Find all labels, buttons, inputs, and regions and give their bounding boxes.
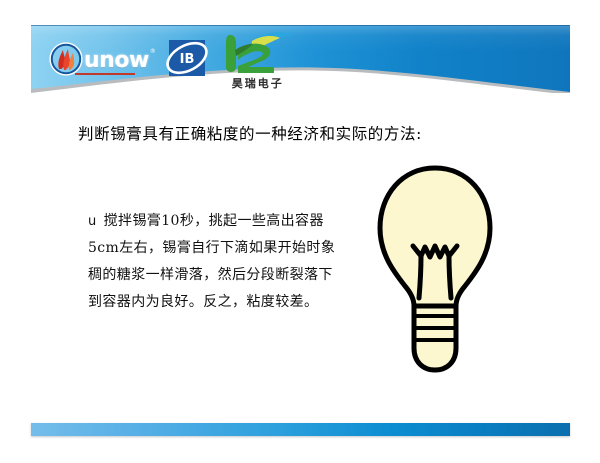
page-title: 判断锡膏具有正确粘度的一种经济和实际的方法: xyxy=(78,122,548,144)
header-banner xyxy=(31,25,570,93)
footer-bar xyxy=(31,423,570,436)
banner-sheen xyxy=(31,25,570,51)
bulb-glass xyxy=(380,168,490,306)
bulb-filament-leg-right xyxy=(449,256,451,298)
body-block: u搅拌锡膏10秒，挑起一些高出容器5cm左右，锡膏自行下滴如果开始时象稠的糖浆一… xyxy=(88,208,338,316)
bullet-marker: u xyxy=(88,214,104,229)
body-paragraph-text: 搅拌锡膏10秒，挑起一些高出容器5cm左右，锡膏自行下滴如果开始时象稠的糖浆一样… xyxy=(88,213,335,310)
lightbulb-illustration xyxy=(373,162,497,392)
lightbulb-icon xyxy=(373,162,497,392)
body-paragraph: u搅拌锡膏10秒，挑起一些高出容器5cm左右，锡膏自行下滴如果开始时象稠的糖浆一… xyxy=(88,208,338,316)
banner-top-hairline xyxy=(31,25,570,26)
header-banner-shape xyxy=(31,25,570,93)
bulb-filament-leg-left xyxy=(419,256,421,298)
